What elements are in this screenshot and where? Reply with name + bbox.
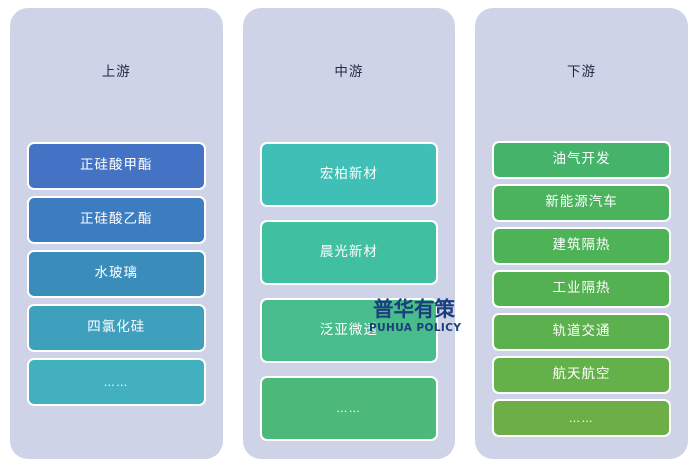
card-label: 航天航空 bbox=[552, 368, 610, 382]
panel-title-downstream: 下游 bbox=[567, 66, 596, 80]
card-downstream-3[interactable]: 建筑隔热 bbox=[492, 227, 671, 265]
card-midstream-2[interactable]: 晨光新材 bbox=[260, 220, 439, 285]
card-downstream-4[interactable]: 工业隔热 bbox=[492, 270, 671, 308]
card-label: 正硅酸甲酯 bbox=[80, 159, 153, 173]
card-label: 正硅酸乙酯 bbox=[80, 213, 153, 227]
card-label: 轨道交通 bbox=[552, 325, 610, 339]
card-upstream-4[interactable]: 四氯化硅 bbox=[27, 304, 206, 352]
card-downstream-1[interactable]: 油气开发 bbox=[492, 141, 671, 179]
card-label: …… bbox=[569, 413, 594, 424]
card-label: …… bbox=[336, 403, 361, 414]
card-label: …… bbox=[104, 377, 129, 388]
panel-midstream: 中游 宏柏新材 晨光新材 泛亚微透 …… bbox=[243, 8, 456, 459]
card-label: 泛亚微透 bbox=[320, 324, 378, 338]
card-downstream-more[interactable]: …… bbox=[492, 399, 671, 437]
card-midstream-1[interactable]: 宏柏新材 bbox=[260, 142, 439, 207]
card-upstream-2[interactable]: 正硅酸乙酯 bbox=[27, 196, 206, 244]
column-downstream: 下游 油气开发 新能源汽车 建筑隔热 工业隔热 轨道交通 航天航空 bbox=[465, 0, 698, 467]
card-upstream-3[interactable]: 水玻璃 bbox=[27, 250, 206, 298]
card-label: 晨光新材 bbox=[320, 246, 378, 260]
panel-upstream: 上游 正硅酸甲酯 正硅酸乙酯 水玻璃 四氯化硅 …… bbox=[10, 8, 223, 459]
panel-downstream: 下游 油气开发 新能源汽车 建筑隔热 工业隔热 轨道交通 航天航空 bbox=[475, 8, 688, 459]
card-stack-upstream: 正硅酸甲酯 正硅酸乙酯 水玻璃 四氯化硅 …… bbox=[10, 142, 223, 406]
industry-chain-diagram: 上游 正硅酸甲酯 正硅酸乙酯 水玻璃 四氯化硅 …… bbox=[0, 0, 698, 467]
card-upstream-more[interactable]: …… bbox=[27, 358, 206, 406]
card-stack-midstream: 宏柏新材 晨光新材 泛亚微透 …… bbox=[243, 142, 456, 441]
card-downstream-5[interactable]: 轨道交通 bbox=[492, 313, 671, 351]
card-label: 工业隔热 bbox=[552, 282, 610, 296]
card-label: 四氯化硅 bbox=[87, 321, 145, 335]
card-label: 油气开发 bbox=[552, 153, 610, 167]
card-downstream-6[interactable]: 航天航空 bbox=[492, 356, 671, 394]
card-upstream-1[interactable]: 正硅酸甲酯 bbox=[27, 142, 206, 190]
card-midstream-3[interactable]: 泛亚微透 bbox=[260, 298, 439, 363]
panel-title-midstream: 中游 bbox=[334, 66, 363, 80]
card-downstream-2[interactable]: 新能源汽车 bbox=[492, 184, 671, 222]
card-stack-downstream: 油气开发 新能源汽车 建筑隔热 工业隔热 轨道交通 航天航空 … bbox=[475, 141, 688, 437]
column-upstream: 上游 正硅酸甲酯 正硅酸乙酯 水玻璃 四氯化硅 …… bbox=[0, 0, 233, 467]
card-midstream-more[interactable]: …… bbox=[260, 376, 439, 441]
card-label: 新能源汽车 bbox=[545, 196, 618, 210]
card-label: 建筑隔热 bbox=[552, 239, 610, 253]
panel-title-upstream: 上游 bbox=[102, 66, 131, 80]
card-label: 宏柏新材 bbox=[320, 168, 378, 182]
card-label: 水玻璃 bbox=[95, 267, 139, 281]
column-midstream: 中游 宏柏新材 晨光新材 泛亚微透 …… bbox=[233, 0, 466, 467]
